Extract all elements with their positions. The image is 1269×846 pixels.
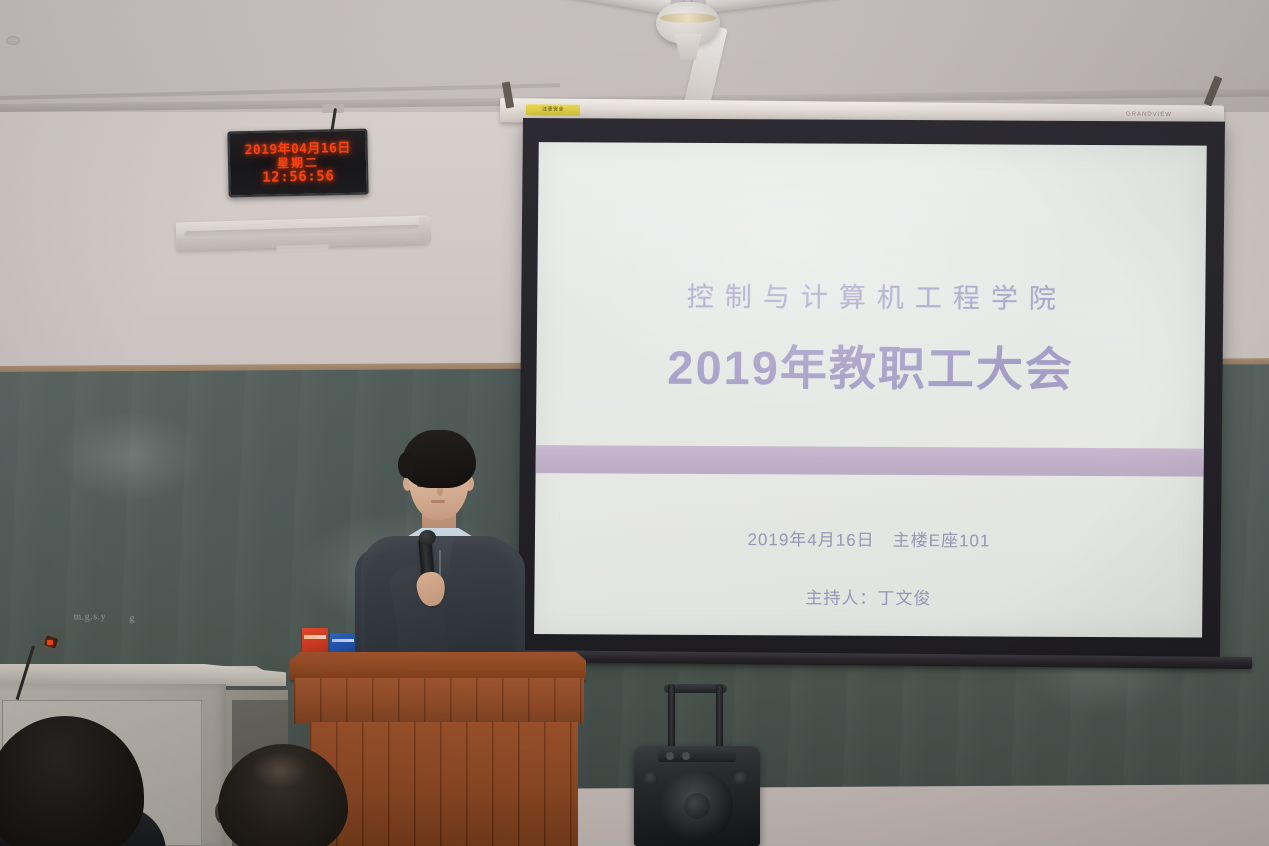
podium-front-panel [310, 722, 578, 846]
speaker-handle-post [668, 684, 675, 750]
person-hair [402, 430, 476, 488]
audience-head-highlight [252, 752, 308, 788]
fan-trim-ring [660, 13, 716, 23]
ceiling-fitting-icon [6, 36, 20, 45]
slide-divider-band [536, 445, 1204, 476]
red-box [302, 628, 328, 654]
led-clock-time: 12:56:56 [262, 169, 335, 186]
light-end-cap [419, 216, 432, 242]
chalk-smudge [54, 411, 205, 502]
classroom-photo: m.g.s.y g 2019年04月16日 星期二 12:56:56 注意安全 … [0, 0, 1269, 846]
slide-organization: 控制与计算机工程学院 [537, 274, 1205, 316]
speaker-knob [682, 752, 690, 760]
blue-box [330, 633, 356, 654]
speaker-woofer-icon [661, 770, 733, 842]
slide-host: 主持人：丁文俊 [534, 582, 1202, 610]
led-clock-display: 2019年04月16日 星期二 12:56:56 [227, 129, 368, 198]
speaker-tweeter-icon [734, 772, 748, 786]
slide-date-location: 2019年4月16日 主楼E座101 [535, 524, 1203, 552]
portable-pa-speaker [634, 684, 760, 846]
speaker-person [355, 430, 525, 670]
projected-slide: 控制与计算机工程学院 2019年教职工大会 2019年4月16日 主楼E座101… [534, 142, 1207, 637]
chalk-writing: g [129, 613, 135, 624]
person-mouth [431, 500, 445, 503]
projection-screen: 控制与计算机工程学院 2019年教职工大会 2019年4月16日 主楼E座101… [518, 118, 1225, 660]
podium-upper-panel [294, 678, 584, 724]
slide-title: 2019年教职工大会 [536, 328, 1205, 400]
red-indicator-led-icon [47, 640, 53, 645]
speaker-handle-post [716, 684, 723, 750]
podium-top-surface [290, 652, 586, 680]
screen-brand-label: GRANDVIEW [1126, 112, 1172, 118]
speaker-knob [666, 752, 674, 760]
warning-sticker: 注意安全 [526, 104, 580, 116]
speaker-tweeter-icon [644, 772, 658, 786]
chalk-writing: m.g.s.y [73, 611, 106, 622]
